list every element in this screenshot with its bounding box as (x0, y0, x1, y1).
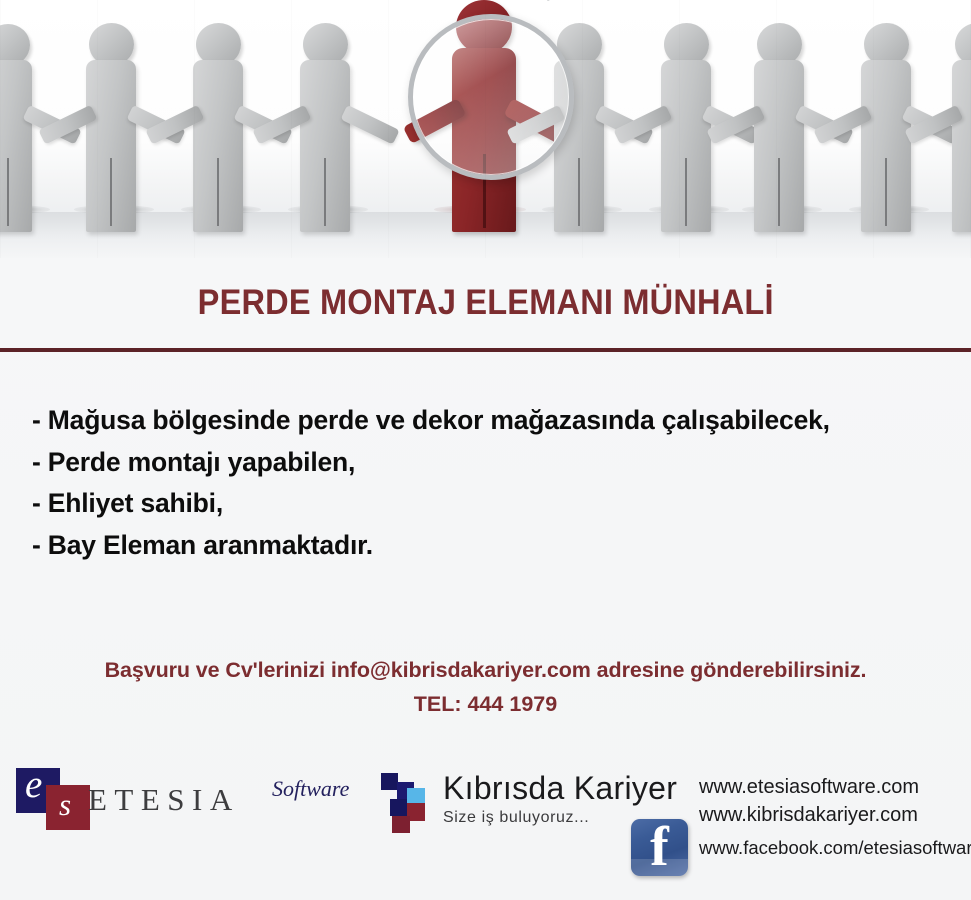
facebook-icon[interactable]: f (631, 819, 688, 876)
page-title: PERDE MONTAJ ELEMANI MÜNHALİ (197, 283, 773, 323)
etesia-software-suffix: Software (272, 776, 349, 802)
facebook-row[interactable]: f www.facebook.com/etesiasoftware (631, 819, 971, 876)
application-instruction: Başvuru ve Cv'lerinizi info@kibrisdakari… (0, 658, 971, 683)
requirements-list: - Mağusa bölgesinde perde ve dekor mağaz… (0, 352, 971, 566)
magnifier-handle-icon (536, 0, 656, 6)
list-item: - Perde montajı yapabilen, (32, 442, 971, 484)
list-item: - Bay Eleman aranmaktadır. (32, 525, 971, 567)
header-artwork (0, 0, 971, 258)
footer-logos: e s ETESIA Software Kıbrısda Kariyer Siz… (0, 765, 971, 900)
etesia-logo-mark-icon: e s (14, 768, 86, 830)
link-facebook[interactable]: www.facebook.com/etesiasoftware (699, 837, 971, 859)
magnifier-icon (408, 14, 574, 180)
phone-number: TEL: 444 1979 (0, 692, 971, 717)
etesia-wordmark: ETESIA (88, 768, 240, 818)
title-zone: PERDE MONTAJ ELEMANI MÜNHALİ (0, 258, 971, 348)
facebook-glyph: f (631, 819, 688, 876)
etesia-mark-letter-s: s (59, 789, 71, 820)
kibrisda-kariyer-mark-icon (381, 773, 433, 833)
list-item: - Ehliyet sahibi, (32, 483, 971, 525)
list-item: - Mağusa bölgesinde perde ve dekor mağaz… (32, 400, 971, 442)
link-etesiasoftware[interactable]: www.etesiasoftware.com (699, 773, 919, 801)
kibrisda-kariyer-name: Kıbrısda Kariyer (443, 771, 677, 806)
contact-block: Başvuru ve Cv'lerinizi info@kibrisdakari… (0, 658, 971, 717)
etesia-mark-letter-e: e (25, 765, 42, 804)
magnifier-glass (413, 19, 569, 175)
job-advertisement-poster: PERDE MONTAJ ELEMANI MÜNHALİ - Mağusa bö… (0, 0, 971, 900)
etesia-software-logo[interactable]: e s ETESIA Software (14, 768, 240, 830)
